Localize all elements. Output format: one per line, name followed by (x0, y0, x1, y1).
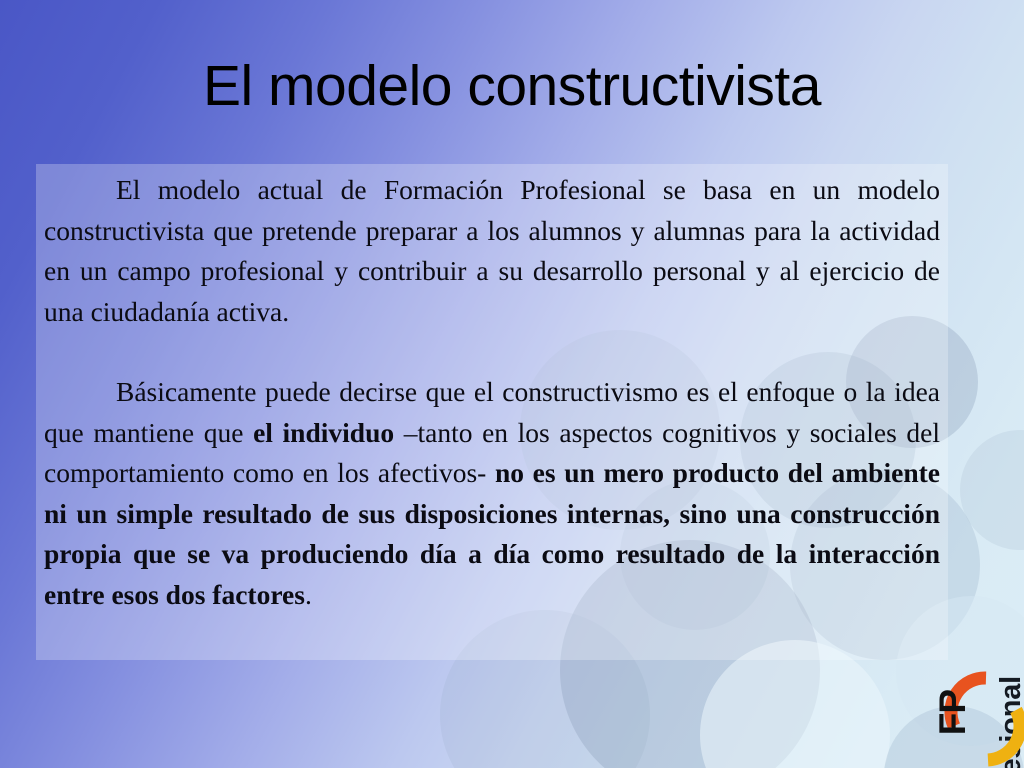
paragraph-2: Básicamente puede decirse que el constru… (44, 372, 940, 615)
fp-logo-text: FP (934, 690, 971, 735)
paragraph-1: El modelo actual de Formación Profesiona… (44, 170, 940, 332)
body-textbox: El modelo actual de Formación Profesiona… (36, 164, 948, 660)
text-run: . (305, 579, 312, 610)
text-run-bold: el individuo (253, 417, 394, 448)
page-title: El modelo constructivista (0, 53, 1024, 119)
decorative-circle (960, 430, 1024, 550)
text-run: El modelo actual de Formación Profesiona… (44, 174, 940, 327)
slide-canvas: El modelo constructivista El modelo actu… (0, 0, 1024, 768)
